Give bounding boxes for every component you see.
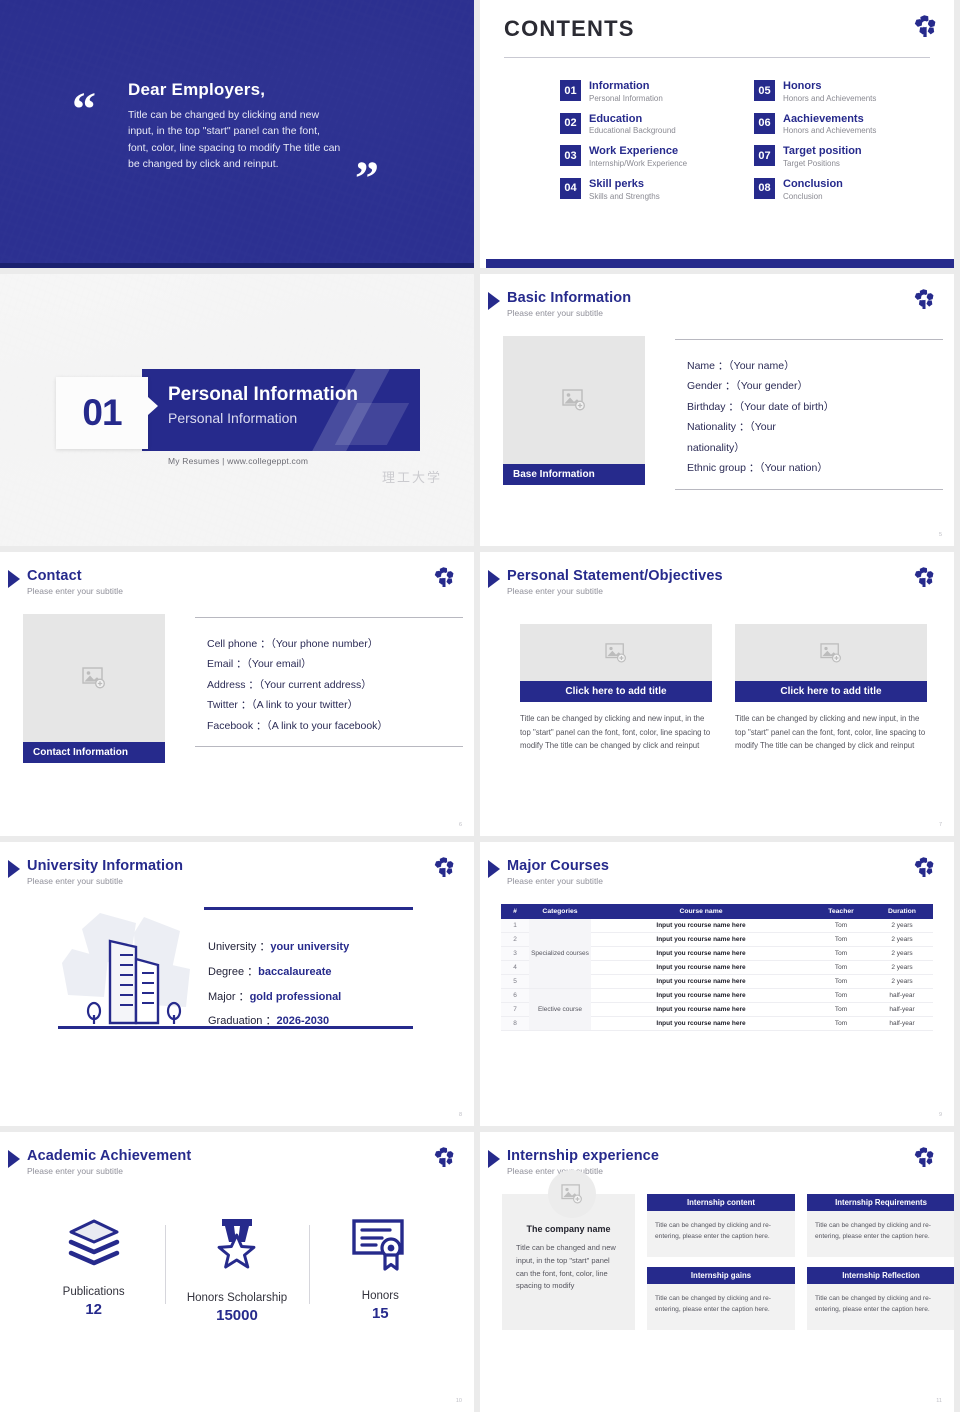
image-placeholder[interactable]	[735, 624, 927, 681]
cell-teacher: Tom	[811, 1017, 871, 1031]
toc-title: Skill perks	[589, 178, 660, 191]
company-name: The company name	[516, 1224, 621, 1234]
contents-bottom-bar	[486, 259, 954, 268]
achievement-stats: Publications 12 Honors Scholarship 15000	[22, 1217, 452, 1324]
toc-subtitle: Honors and Achievements	[783, 126, 876, 135]
books-stack-icon	[63, 1217, 125, 1269]
cell-course: Input you rcourse name here	[591, 933, 811, 947]
toc-item[interactable]: 03 Work Experience Internship/Work Exper…	[560, 145, 736, 168]
toc-subtitle: Honors and Achievements	[783, 94, 876, 103]
contact-info-row: Contact Information Cell phone ：（Your ph…	[23, 614, 463, 763]
cell-duration: half-year	[871, 1003, 933, 1017]
contact-field: Twitter ：（A link to your twitter）	[207, 695, 463, 715]
slide-internship-experience[interactable]: Internship experience Please enter your …	[480, 1132, 954, 1412]
toc-item[interactable]: 07 Target position Target Positions	[754, 145, 930, 168]
toc-item[interactable]: 06 Aachievements Honors and Achievements	[754, 113, 930, 136]
arrow-right-icon	[488, 1150, 500, 1168]
contact-field: Facebook ：（A link to your facebook）	[207, 716, 463, 736]
pointer-triangle-icon	[148, 397, 158, 415]
add-title-button[interactable]: Click here to add title	[520, 681, 712, 702]
slide-header: Major Courses Please enter your subtitle	[488, 858, 609, 886]
toc-subtitle: Internship/Work Experience	[589, 159, 687, 168]
page-number: 9	[939, 1112, 942, 1118]
arrow-right-icon	[488, 860, 500, 878]
internship-card[interactable]: Internship Requirements Title can be cha…	[807, 1194, 954, 1257]
contact-field-list: Cell phone ：（Your phone number） Email ：（…	[195, 614, 463, 763]
section-title: Personal Information	[168, 384, 358, 406]
slide-cover[interactable]: “ Dear Employers, Title can be changed b…	[0, 0, 474, 268]
cell-duration: 2 years	[871, 919, 933, 933]
flower-logo-icon	[914, 1146, 936, 1170]
page-subtitle: Please enter your subtitle	[27, 1166, 191, 1176]
toc-title: Conclusion	[783, 178, 843, 191]
stat-label: Honors Scholarship	[165, 1292, 308, 1304]
stat-label: Honors	[309, 1290, 452, 1302]
page-title: Academic Achievement	[27, 1148, 191, 1164]
toc-item[interactable]: 04 Skill perks Skills and Strengths	[560, 178, 736, 201]
flower-logo-icon	[434, 856, 456, 880]
cell-index: 3	[501, 947, 529, 961]
toc-subtitle: Educational Background	[589, 126, 676, 135]
card-body: Title can be changed by clicking and new…	[520, 712, 712, 753]
toc-number: 06	[754, 113, 775, 134]
cell-teacher: Tom	[811, 975, 871, 989]
fact-row: Degree ：baccalaureate	[208, 960, 349, 985]
col-duration: Duration	[871, 904, 933, 919]
slide-header: Basic Information Please enter your subt…	[488, 290, 631, 318]
statement-card[interactable]: Click here to add title Title can be cha…	[735, 624, 927, 753]
slide-header: Contact Please enter your subtitle	[8, 568, 123, 596]
col-index: #	[501, 904, 529, 919]
page-number: 5	[939, 532, 942, 538]
card-body: Title can be changed by clicking and re-…	[647, 1284, 795, 1330]
arrow-right-icon	[8, 570, 20, 588]
table-row[interactable]: 1 Specialized courses Input you rcourse …	[501, 919, 933, 933]
cell-teacher: Tom	[811, 1003, 871, 1017]
stat-value: 15	[309, 1305, 452, 1322]
arrow-right-icon	[488, 570, 500, 588]
fact-label: Graduation ：	[208, 1015, 276, 1027]
add-title-button[interactable]: Click here to add title	[735, 681, 927, 702]
slide-university-information[interactable]: University Information Please enter your…	[0, 842, 474, 1126]
internship-card[interactable]: Internship gains Title can be changed by…	[647, 1267, 795, 1330]
card-body: Title can be changed by clicking and re-…	[807, 1211, 954, 1257]
col-teacher: Teacher	[811, 904, 871, 919]
fact-value: your university	[270, 941, 349, 953]
page-subtitle: Please enter your subtitle	[507, 586, 723, 596]
cell-index: 1	[501, 919, 529, 933]
internship-card[interactable]: Internship content Title can be changed …	[647, 1194, 795, 1257]
slide-basic-information[interactable]: Basic Information Please enter your subt…	[480, 274, 954, 546]
cell-category: Elective course	[529, 989, 591, 1031]
internship-card[interactable]: Internship Reflection Title can be chang…	[807, 1267, 954, 1330]
toc-title: Education	[589, 113, 676, 126]
slide-personal-statement[interactable]: Personal Statement/Objectives Please ent…	[480, 552, 954, 836]
cell-course: Input you rcourse name here	[591, 947, 811, 961]
cell-course: Input you rcourse name here	[591, 919, 811, 933]
flower-logo-icon	[914, 288, 936, 312]
cell-index: 4	[501, 961, 529, 975]
toc-subtitle: Conclusion	[783, 192, 843, 201]
add-image-icon	[562, 389, 586, 411]
flower-logo-icon	[914, 856, 936, 880]
cell-category: Specialized courses	[529, 919, 591, 989]
toc-item[interactable]: 05 Honors Honors and Achievements	[754, 80, 930, 103]
toc-item[interactable]: 02 Education Educational Background	[560, 113, 736, 136]
fact-label: Major ：	[208, 991, 250, 1003]
info-field: Gender ：（Your gender）	[687, 376, 943, 396]
stat-value: 15000	[165, 1307, 308, 1324]
cell-duration: 2 years	[871, 933, 933, 947]
company-card[interactable]: The company name Title can be changed an…	[502, 1194, 635, 1330]
cell-duration: 2 years	[871, 961, 933, 975]
basic-info-row: Base Information Name ：（Your name） Gende…	[503, 336, 943, 490]
cell-index: 6	[501, 989, 529, 1003]
contact-field: Cell phone ：（Your phone number）	[207, 634, 463, 654]
cell-teacher: Tom	[811, 989, 871, 1003]
info-field: Name ：（Your name）	[687, 356, 943, 376]
toc-item[interactable]: 08 Conclusion Conclusion	[754, 178, 930, 201]
toc-number: 02	[560, 113, 581, 134]
page-title: University Information	[27, 858, 183, 874]
slide-section-divider[interactable]: 01 Personal Information Personal Informa…	[0, 274, 474, 546]
page-number: 8	[459, 1112, 462, 1118]
internship-layout: The company name Title can be changed an…	[502, 1194, 954, 1330]
image-placeholder[interactable]	[23, 614, 165, 742]
stat-label: Publications	[22, 1286, 165, 1298]
cell-duration: half-year	[871, 989, 933, 1003]
stat-honors-scholarship[interactable]: Honors Scholarship 15000	[165, 1217, 308, 1324]
slide-deck: “ Dear Employers, Title can be changed b…	[0, 0, 960, 1412]
statement-card[interactable]: Click here to add title Title can be cha…	[520, 624, 712, 753]
cell-teacher: Tom	[811, 947, 871, 961]
cover-bottom-strip	[0, 263, 474, 268]
photo-card[interactable]: Contact Information	[23, 614, 165, 763]
table-header-row: # Categories Course name Teacher Duratio…	[501, 904, 933, 919]
university-panel: University ：your university Degree ：bacc…	[58, 907, 413, 1029]
fact-row: Major ：gold professional	[208, 985, 349, 1010]
quote-close-icon: ”	[355, 155, 379, 203]
card-body: Title can be changed by clicking and re-…	[807, 1284, 954, 1330]
slide-header: Personal Statement/Objectives Please ent…	[488, 568, 723, 596]
contact-field: Address ：（Your current address）	[207, 675, 463, 695]
fact-label: University ：	[208, 941, 270, 953]
info-field: nationality）	[687, 438, 943, 458]
stat-publications[interactable]: Publications 12	[22, 1217, 165, 1324]
card-body: Title can be changed by clicking and re-…	[647, 1211, 795, 1257]
stat-honors[interactable]: Honors 15	[309, 1217, 452, 1324]
photo-card[interactable]: Base Information	[503, 336, 645, 490]
image-placeholder[interactable]	[503, 336, 645, 464]
contents-list: 01 Information Personal Information 05 H…	[560, 80, 930, 207]
toc-number: 08	[754, 178, 775, 199]
fact-label: Degree ：	[208, 966, 258, 978]
toc-title: Work Experience	[589, 145, 687, 158]
page-subtitle: Please enter your subtitle	[507, 876, 609, 886]
slide-major-courses[interactable]: Major Courses Please enter your subtitle…	[480, 842, 954, 1126]
fact-value: baccalaureate	[258, 966, 331, 978]
medal-icon	[208, 1217, 266, 1275]
cell-index: 2	[501, 933, 529, 947]
flower-logo-icon	[434, 1146, 456, 1170]
contact-field: Email ：（Your email）	[207, 654, 463, 674]
cell-duration: half-year	[871, 1017, 933, 1031]
toc-number: 05	[754, 80, 775, 101]
add-image-icon	[820, 643, 842, 663]
cover-text-block: Dear Employers, Title can be changed by …	[128, 80, 343, 172]
slide-academic-achievement[interactable]: Academic Achievement Please enter your s…	[0, 1132, 474, 1412]
info-field-list: Name ：（Your name） Gender ：（Your gender） …	[675, 336, 943, 490]
toc-subtitle: Personal Information	[589, 94, 663, 103]
cell-index: 8	[501, 1017, 529, 1031]
page-title: Personal Statement/Objectives	[507, 568, 723, 584]
arrow-right-icon	[8, 860, 20, 878]
page-title: Internship experience	[507, 1148, 659, 1164]
cell-index: 7	[501, 1003, 529, 1017]
courses-table[interactable]: # Categories Course name Teacher Duratio…	[501, 904, 933, 1031]
card-body: Title can be changed by clicking and new…	[735, 712, 927, 753]
page-number: 6	[459, 822, 462, 828]
toc-number: 01	[560, 80, 581, 101]
toc-subtitle: Skills and Strengths	[589, 192, 660, 201]
image-placeholder[interactable]	[520, 624, 712, 681]
watermark-text: 理工大学	[382, 467, 442, 486]
toc-title: Honors	[783, 80, 876, 93]
cell-course: Input you rcourse name here	[591, 975, 811, 989]
card-title: Internship content	[647, 1194, 795, 1211]
cell-teacher: Tom	[811, 961, 871, 975]
company-description: Title can be changed and new input, in t…	[516, 1242, 621, 1293]
cover-heading: Dear Employers,	[128, 80, 343, 100]
fact-value: 2026-2030	[276, 1015, 329, 1027]
page-title: Contact	[27, 568, 123, 584]
cell-teacher: Tom	[811, 933, 871, 947]
card-title: Internship gains	[647, 1267, 795, 1284]
university-building-icon	[58, 911, 208, 1029]
section-number: 01	[82, 392, 121, 434]
cell-course: Input you rcourse name here	[591, 989, 811, 1003]
cell-course: Input you rcourse name here	[591, 961, 811, 975]
university-facts: University ：your university Degree ：bacc…	[208, 935, 349, 1034]
statement-cards: Click here to add title Title can be cha…	[520, 624, 927, 753]
page-number: 7	[939, 822, 942, 828]
col-categories: Categories	[529, 904, 591, 919]
slide-header: Academic Achievement Please enter your s…	[8, 1148, 191, 1176]
cell-course: Input you rcourse name here	[591, 1017, 811, 1031]
col-course-name: Course name	[591, 904, 811, 919]
internship-quadrants: Internship content Title can be changed …	[647, 1194, 954, 1330]
divider-line	[675, 489, 943, 490]
fact-value: gold professional	[250, 991, 342, 1003]
card-title: Internship Reflection	[807, 1267, 954, 1284]
page-title: Basic Information	[507, 290, 631, 306]
image-placeholder[interactable]	[548, 1170, 596, 1218]
slide-contents[interactable]: CONTENTS 01 Information Personal Info	[480, 0, 954, 268]
toc-title: Target position	[783, 145, 862, 158]
photo-caption: Base Information	[503, 464, 645, 485]
slide-header: University Information Please enter your…	[8, 858, 183, 886]
page-subtitle: Please enter your subtitle	[27, 876, 183, 886]
divider-line	[195, 746, 463, 747]
toc-title: Information	[589, 80, 663, 93]
page-number: 11	[936, 1398, 942, 1404]
section-number-box: 01	[56, 377, 148, 449]
add-image-icon	[82, 667, 106, 689]
flower-logo-icon	[914, 566, 936, 590]
cell-duration: 2 years	[871, 975, 933, 989]
page-title: Major Courses	[507, 858, 609, 874]
slide-contact[interactable]: Contact Please enter your subtitle	[0, 552, 474, 836]
info-field: Nationality ：（Your	[687, 417, 943, 437]
cell-teacher: Tom	[811, 919, 871, 933]
toc-title: Aachievements	[783, 113, 876, 126]
page-number: 10	[456, 1398, 462, 1404]
toc-number: 07	[754, 145, 775, 166]
page-subtitle: Please enter your subtitle	[507, 308, 631, 318]
info-field: Ethnic group ：（Your nation）	[687, 458, 943, 478]
cell-course: Input you rcourse name here	[591, 1003, 811, 1017]
card-title: Internship Requirements	[807, 1194, 954, 1211]
cell-duration: 2 years	[871, 947, 933, 961]
toc-number: 03	[560, 145, 581, 166]
divider-meta: My Resumes | www.collegeppt.com	[168, 456, 308, 466]
add-image-icon	[561, 1184, 583, 1204]
fact-row: Graduation ：2026-2030	[208, 1009, 349, 1034]
stat-value: 12	[22, 1301, 165, 1318]
fact-row: University ：your university	[208, 935, 349, 960]
cell-index: 5	[501, 975, 529, 989]
page-title: CONTENTS	[504, 16, 930, 42]
toc-number: 04	[560, 178, 581, 199]
flower-logo-icon	[914, 14, 936, 38]
add-image-icon	[605, 643, 627, 663]
section-subtitle: Personal Information	[168, 410, 297, 426]
arrow-right-icon	[8, 1150, 20, 1168]
table-row[interactable]: 6 Elective course Input you rcourse name…	[501, 989, 933, 1003]
toc-subtitle: Target Positions	[783, 159, 862, 168]
flower-logo-icon	[434, 566, 456, 590]
quote-open-icon: “	[72, 86, 96, 134]
info-field: Birthday ：（Your date of birth）	[687, 397, 943, 417]
arrow-right-icon	[488, 292, 500, 310]
photo-caption: Contact Information	[23, 742, 165, 763]
toc-item[interactable]: 01 Information Personal Information	[560, 80, 736, 103]
title-rule	[504, 57, 930, 58]
panel-top-rule	[204, 907, 413, 910]
certificate-icon	[349, 1217, 411, 1273]
cover-body: Title can be changed by clicking and new…	[128, 107, 343, 172]
page-subtitle: Please enter your subtitle	[27, 586, 123, 596]
